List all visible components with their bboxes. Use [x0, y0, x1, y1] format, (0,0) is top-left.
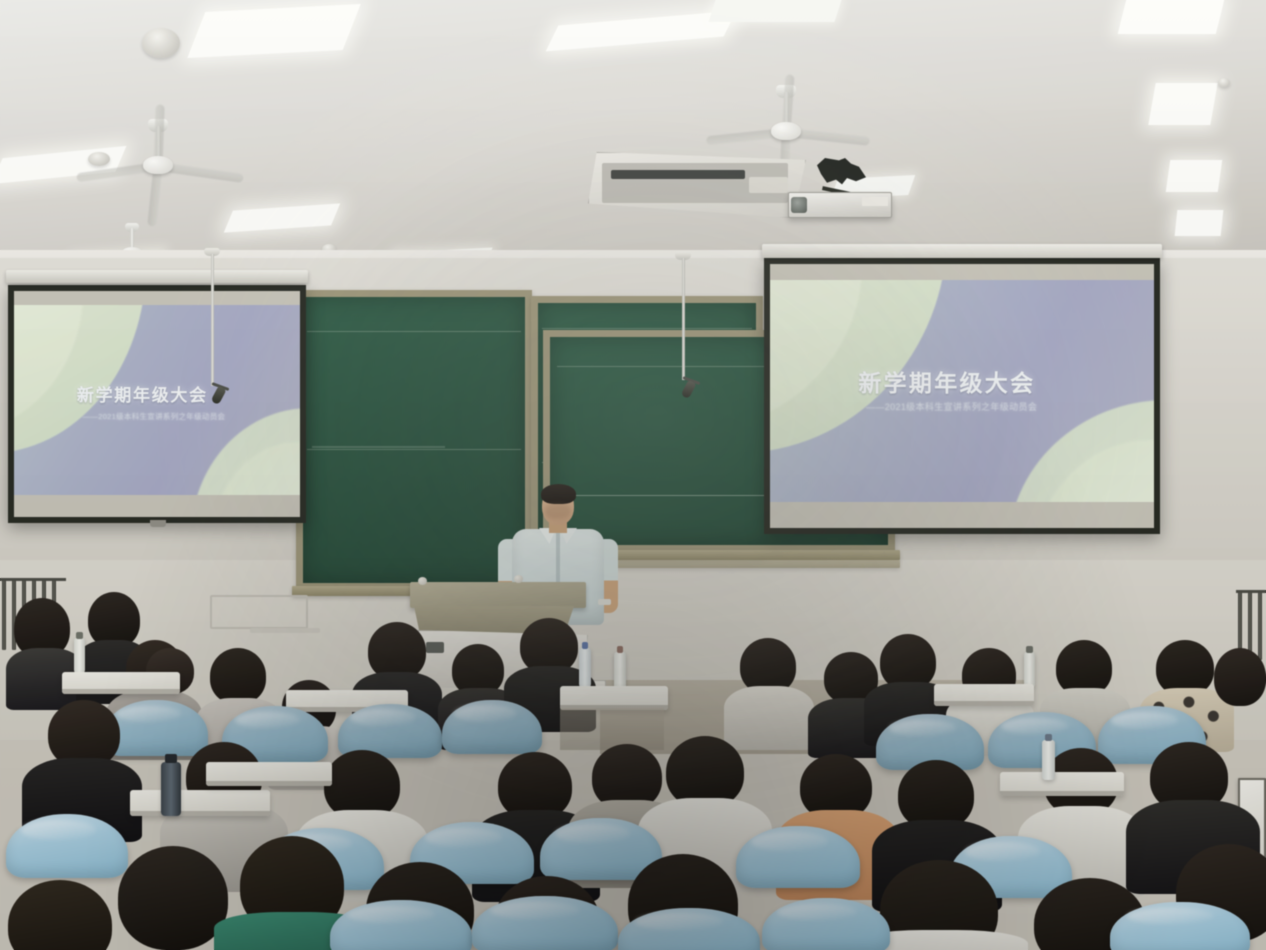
auditorium-seat: [330, 900, 472, 950]
right-screen-roller: [762, 244, 1162, 258]
ceiling-projector: [788, 168, 892, 230]
auditorium-seat: [762, 898, 890, 950]
slide-subtitle-right: ——2021级本科生宣讲系列之年级动员会: [866, 400, 1037, 413]
ceiling-fan: [128, 126, 188, 188]
hanging-microphone-center: [672, 258, 694, 396]
water-bottle: [1024, 652, 1035, 688]
smoke-detector-icon: [142, 28, 180, 58]
water-bottle: [614, 652, 626, 690]
student-desk: [206, 762, 332, 786]
presenter-wristwatch: [598, 599, 611, 605]
auditorium-seat: [472, 896, 618, 950]
water-bottle: [74, 638, 85, 674]
ceiling-light-panel: [1148, 83, 1217, 125]
ceiling-light-panel: [546, 11, 737, 52]
slide-subtitle-left: ——2021级本科生宣讲系列之年级动员会: [83, 411, 226, 422]
slide-title-left: 新学期年级大会: [77, 381, 208, 406]
slide-title-right: 新学期年级大会: [858, 364, 1035, 398]
water-bottle: [161, 762, 181, 816]
right-projection-screen: 新学期年级大会 ——2021级本科生宣讲系列之年级动员会: [764, 258, 1160, 534]
ceiling-ac-unit: [588, 152, 806, 218]
student-desk: [130, 790, 270, 816]
hanging-microphone-left: [200, 254, 224, 404]
auditorium-seat: [442, 700, 542, 754]
projector-lens-icon: [791, 197, 807, 213]
auditorium-seat: [1110, 902, 1250, 950]
auditorium-seat: [6, 814, 128, 878]
water-bottle: [579, 648, 591, 688]
student: [118, 846, 228, 950]
ceiling-fan: [758, 92, 814, 150]
ceiling-light-panel: [708, 0, 841, 22]
student-desk: [560, 686, 668, 710]
left-projection-screen: 新学期年级大会 ——2021级本科生宣讲系列之年级动员会: [8, 285, 306, 523]
auditorium-seat: [736, 826, 860, 888]
student-desk: [934, 684, 1034, 706]
wall-notice-box: [210, 595, 308, 629]
left-screen-pull-tab: [150, 520, 166, 527]
ceiling-light-panel: [224, 203, 340, 232]
left-slide-surface: 新学期年级大会 ——2021级本科生宣讲系列之年级动员会: [14, 305, 300, 495]
wall-conduit: [250, 628, 320, 633]
smoke-detector-icon: [88, 152, 110, 166]
student: [8, 880, 112, 950]
chalk-tray: [600, 560, 900, 568]
lecture-hall-photo: 新学期年级大会 ——2021级本科生宣讲系列之年级动员会 新学期年级大会 ——2…: [0, 0, 1266, 950]
ceiling-light-panel: [0, 146, 126, 184]
right-slide-surface: 新学期年级大会 ——2021级本科生宣讲系列之年级动员会: [770, 280, 1154, 502]
left-screen-roller: [6, 270, 308, 283]
student: [210, 648, 266, 704]
smoke-detector-icon: [1218, 78, 1230, 87]
ceiling-light-panel: [1118, 0, 1224, 34]
water-bottle: [1042, 740, 1055, 780]
ceiling-light-panel: [1175, 210, 1224, 236]
student-desk: [1000, 772, 1124, 796]
student: [1214, 648, 1266, 706]
student-desk: [62, 672, 180, 694]
presenter-hair: [541, 484, 576, 504]
auditorium-seat: [618, 908, 760, 950]
ceiling-light-panel: [187, 4, 360, 58]
ceiling-light-panel: [1166, 160, 1222, 192]
